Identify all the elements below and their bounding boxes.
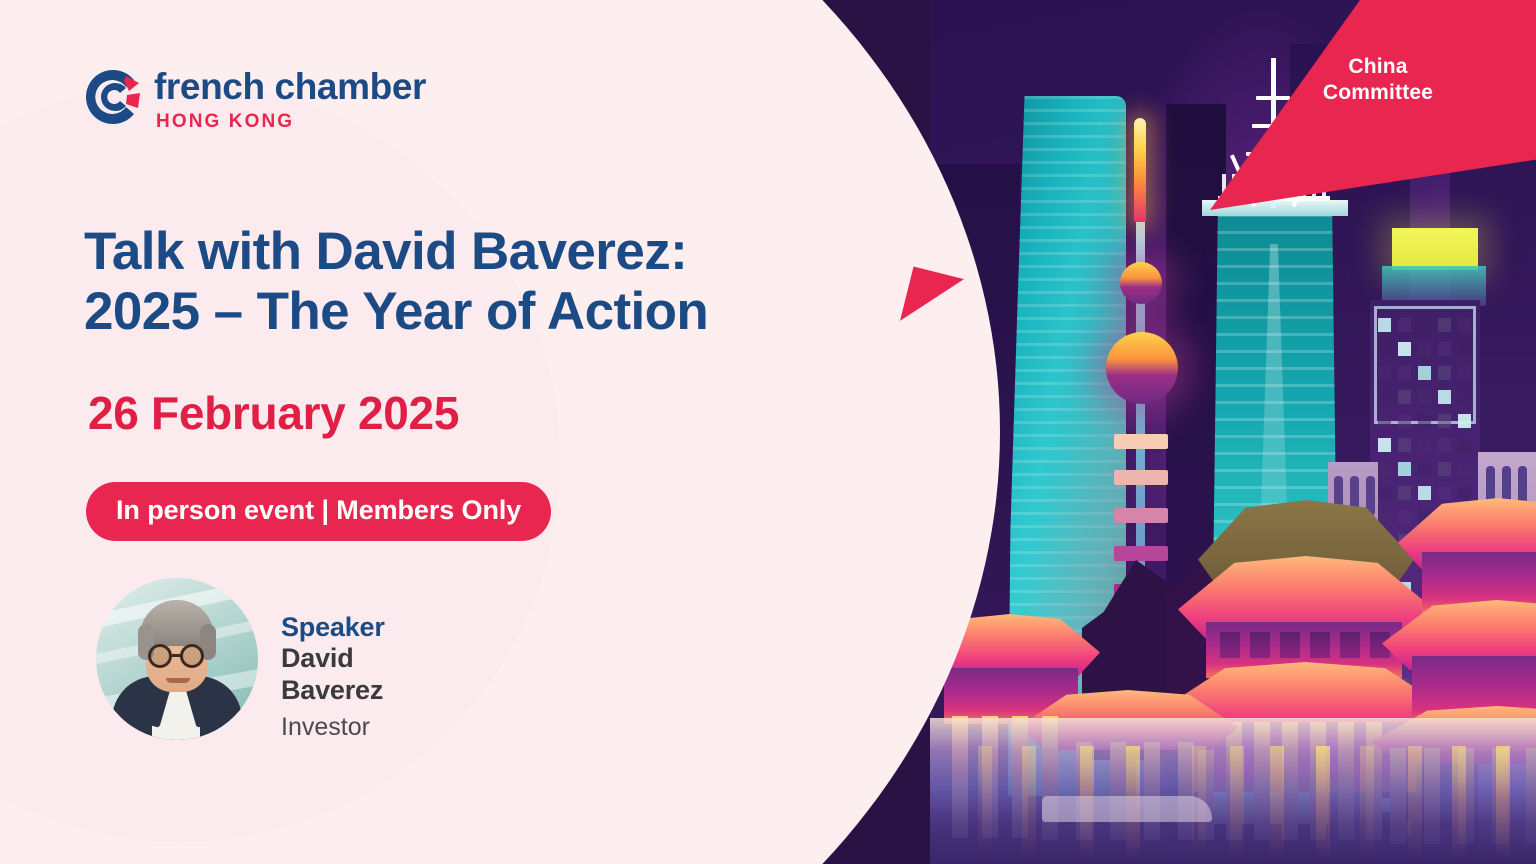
title-line-2: 2025 – The Year of Action: [84, 282, 924, 342]
pagoda-window-row: [1220, 632, 1400, 662]
corner-badge-line1: China: [1288, 54, 1468, 80]
french-chamber-logo[interactable]: french chamber HONG KONG: [82, 66, 482, 128]
speaker-name: David Baverez: [281, 643, 385, 707]
avatar-glasses-right-lens: [180, 644, 204, 668]
yellow-capped-building-top: [1392, 228, 1478, 270]
event-date: 26 February 2025: [88, 386, 459, 440]
china-committee-label: China Committee: [1288, 54, 1468, 105]
avatar-mouth: [166, 678, 190, 683]
pink-arc-decoration-secondary: [0, 82, 560, 842]
cci-c-mark-icon: [82, 66, 144, 128]
water-light-streaks: [930, 734, 1536, 864]
logo-location: HONG KONG: [156, 112, 426, 131]
speaker-role-label: Speaker: [281, 612, 385, 643]
oriental-pearl-bar: [1114, 434, 1168, 449]
corner-badge-line2: Committee: [1288, 80, 1468, 106]
logo-wordmark: french chamber HONG KONG: [154, 68, 426, 131]
boat-silhouette: [1042, 796, 1212, 822]
logo-name: french chamber: [154, 68, 426, 105]
avatar-glasses-left-lens: [148, 644, 172, 668]
title-line-1: Talk with David Baverez:: [84, 222, 687, 281]
oriental-pearl-large-sphere: [1106, 332, 1178, 404]
speaker-avatar: [96, 578, 258, 740]
avatar-glasses-bridge: [172, 654, 182, 657]
oriental-pearl-small-sphere: [1120, 262, 1162, 304]
oriental-pearl-bar: [1114, 508, 1168, 523]
oriental-pearl-bar: [1114, 546, 1168, 561]
speaker-title: Investor: [281, 711, 385, 745]
page-title: Talk with David Baverez: 2025 – The Year…: [84, 222, 924, 342]
event-banner: China Committee french chamber HONG KONG…: [0, 0, 1536, 864]
antenna-crossbar: [1256, 96, 1290, 100]
oriental-pearl-bar: [1114, 470, 1168, 485]
oriental-pearl-spire-icon: [1134, 118, 1146, 222]
speaker-details: Speaker David Baverez Investor: [281, 612, 385, 745]
event-type-badge: In person event | Members Only: [86, 482, 551, 541]
